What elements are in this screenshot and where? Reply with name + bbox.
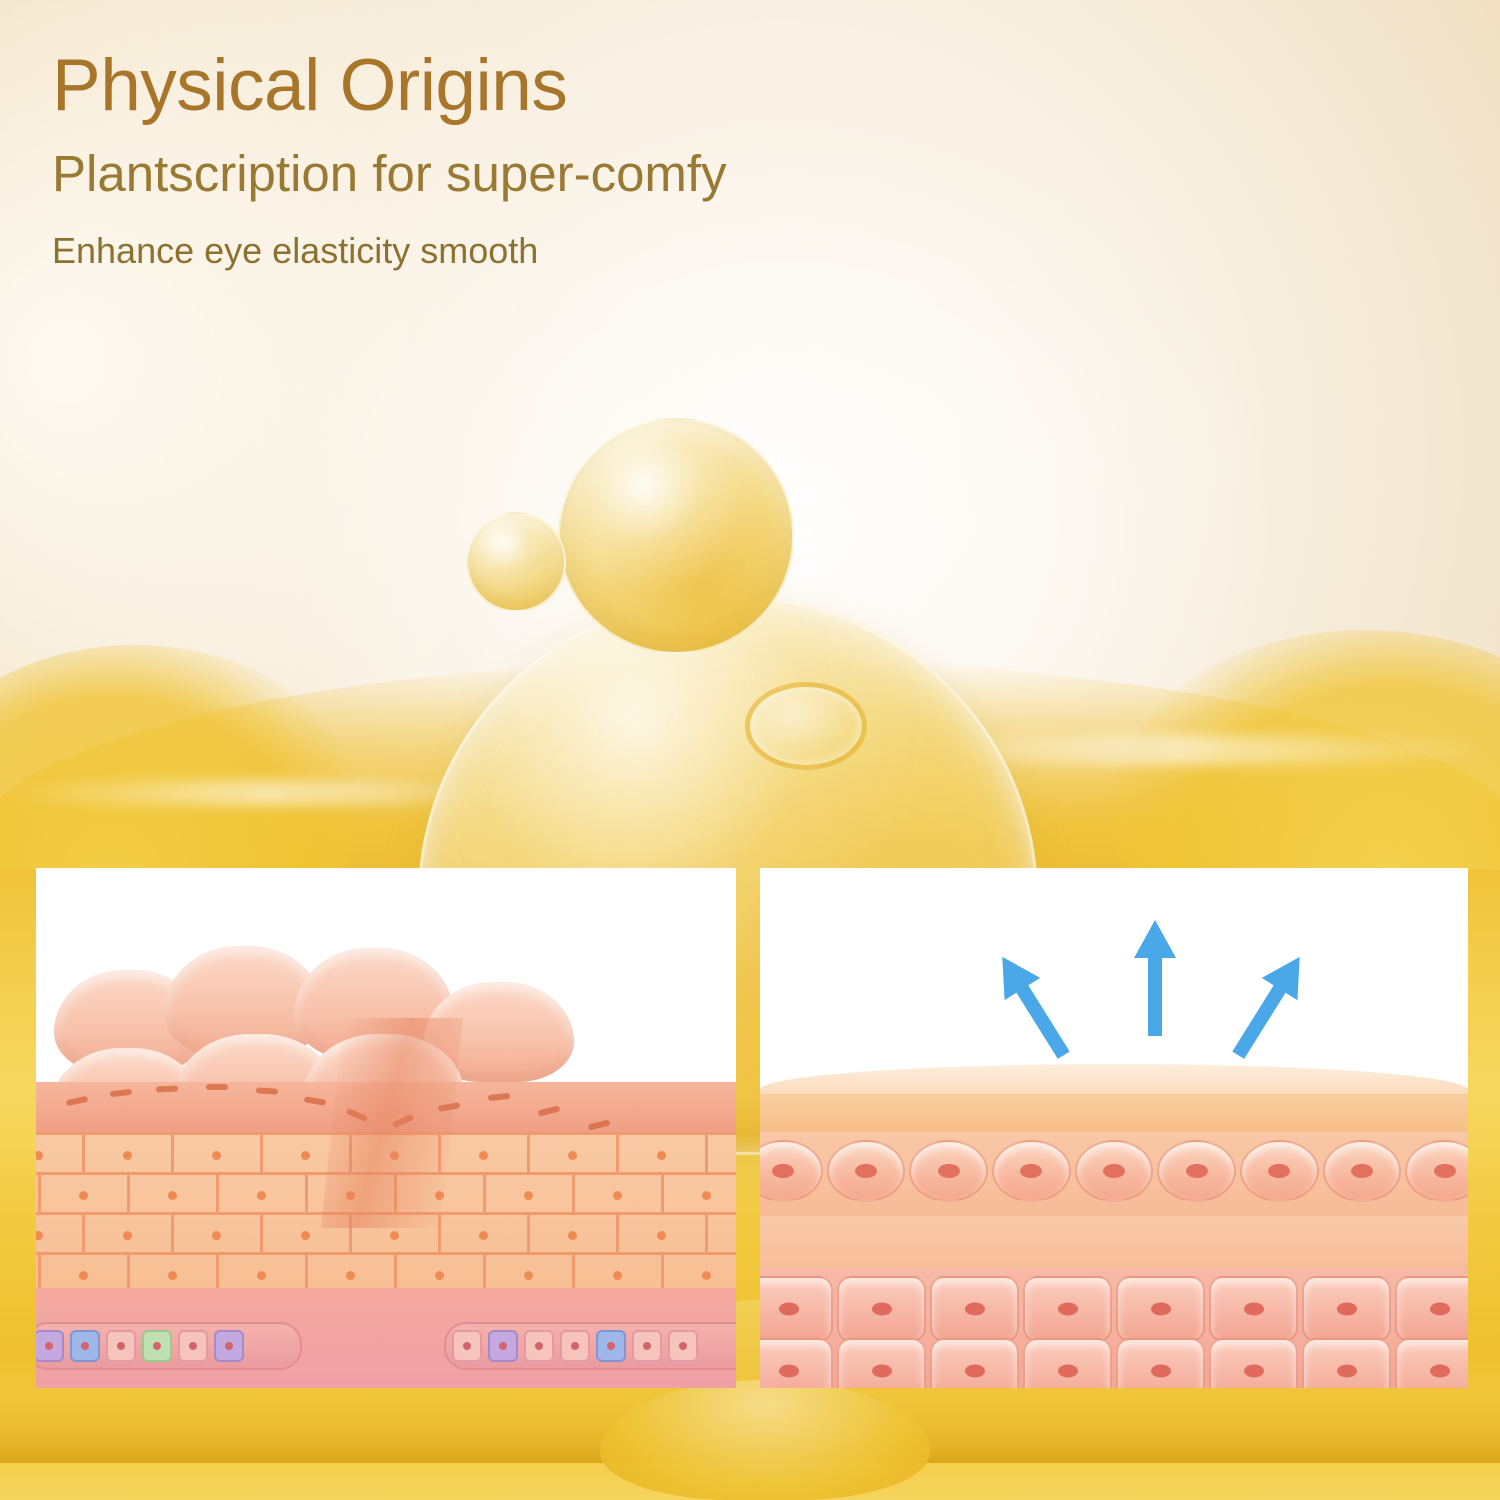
cell-nucleus	[168, 1191, 177, 1200]
cell-nucleus	[36, 1151, 43, 1160]
brick-cell	[174, 1135, 263, 1175]
brick-cell	[530, 1135, 619, 1175]
brick-cell	[708, 1135, 736, 1175]
second-cell-row	[760, 1276, 1468, 1342]
cell-nucleus	[657, 1231, 666, 1240]
cell-nucleus	[212, 1151, 221, 1160]
dermal-cell	[930, 1338, 1019, 1388]
wrinkled-skin-diagram	[36, 868, 736, 1388]
cell-nucleus	[212, 1231, 221, 1240]
inner-air-bubble	[745, 682, 867, 770]
stratum-fiber	[488, 1093, 511, 1101]
infographic-canvas: Physical Origins Plantscription for supe…	[0, 0, 1500, 1500]
cell-nucleus	[479, 1231, 488, 1240]
dermal-cell	[1209, 1276, 1298, 1342]
cell-nucleus	[702, 1271, 711, 1280]
medium-oil-bubble	[558, 418, 794, 654]
cell-nucleus	[524, 1191, 533, 1200]
page-title: Physical Origins	[52, 48, 1112, 124]
brick-cell	[36, 1215, 85, 1255]
cell-nucleus	[568, 1151, 577, 1160]
third-cell-row	[760, 1338, 1468, 1388]
brick-cell	[130, 1175, 219, 1215]
stratum-fiber	[206, 1084, 228, 1090]
brick-cell	[708, 1215, 736, 1255]
vessel-cell	[668, 1330, 698, 1362]
dermal-cell	[1116, 1338, 1205, 1388]
cell-nucleus	[524, 1271, 533, 1280]
dermal-cell	[760, 1276, 833, 1342]
brick-cell	[664, 1175, 736, 1215]
plump-cell	[1405, 1140, 1468, 1202]
cell-nucleus	[123, 1231, 132, 1240]
page-subtitle: Plantscription for super-comfy	[52, 146, 1112, 201]
smooth-surface-layer	[760, 1094, 1468, 1134]
vessel-cell	[488, 1330, 518, 1362]
cell-nucleus	[301, 1231, 310, 1240]
heading-block: Physical Origins Plantscription for supe…	[52, 48, 1112, 271]
stratum-fiber	[66, 1096, 89, 1106]
brick-cell	[575, 1175, 664, 1215]
dermal-cell	[1209, 1338, 1298, 1388]
cell-nucleus	[568, 1231, 577, 1240]
brick-cell	[174, 1215, 263, 1255]
cell-nucleus	[390, 1231, 399, 1240]
stratum-fiber	[110, 1089, 133, 1097]
vessel-cell	[36, 1330, 64, 1362]
vessel-cell	[632, 1330, 662, 1362]
dermal-cell	[1395, 1338, 1468, 1388]
brick-cell	[486, 1175, 575, 1215]
plump-cell	[1075, 1140, 1154, 1202]
cell-nucleus	[257, 1191, 266, 1200]
page-tagline: Enhance eye elasticity smooth	[52, 231, 1112, 271]
brick-cell	[530, 1215, 619, 1255]
cell-nucleus	[435, 1271, 444, 1280]
brick-cell	[36, 1135, 85, 1175]
diagram-card-row	[36, 868, 1468, 1388]
brick-cell	[41, 1175, 130, 1215]
dermal-cell	[1302, 1338, 1391, 1388]
dermal-cell	[837, 1338, 926, 1388]
cell-nucleus	[301, 1151, 310, 1160]
stratum-fiber	[256, 1087, 278, 1095]
vessel-cell	[524, 1330, 554, 1362]
brick-cell	[85, 1215, 174, 1255]
vessel-cell	[560, 1330, 590, 1362]
cell-nucleus	[79, 1271, 88, 1280]
wrinkle-fold-shadow	[321, 1018, 463, 1228]
cell-nucleus	[657, 1151, 666, 1160]
small-oil-bubble	[466, 512, 566, 612]
brick-cell	[619, 1135, 708, 1175]
dermal-cell	[1023, 1338, 1112, 1388]
dermal-cell	[1023, 1276, 1112, 1342]
brick-cell	[441, 1215, 530, 1255]
brick-cell	[619, 1215, 708, 1255]
stratum-fiber	[156, 1085, 178, 1092]
blood-vessel	[36, 1322, 302, 1370]
arrow-up-icon	[1132, 918, 1178, 1038]
dermal-cell	[837, 1276, 926, 1342]
cell-nucleus	[257, 1271, 266, 1280]
vessel-cell	[214, 1330, 244, 1362]
cell-nucleus	[168, 1271, 177, 1280]
stratum-fiber	[304, 1096, 327, 1105]
vessel-cell	[142, 1330, 172, 1362]
cell-nucleus	[346, 1271, 355, 1280]
cell-nucleus	[702, 1191, 711, 1200]
vessel-cell	[452, 1330, 482, 1362]
plump-cell	[1157, 1140, 1236, 1202]
cell-nucleus	[479, 1151, 488, 1160]
dermal-cell	[1116, 1276, 1205, 1342]
brick-cell	[85, 1135, 174, 1175]
dermal-cell	[760, 1338, 833, 1388]
brick-cell	[441, 1135, 530, 1175]
plump-cell	[760, 1140, 823, 1202]
vessel-cell	[106, 1330, 136, 1362]
dermal-cell	[1302, 1276, 1391, 1342]
brick-cell	[219, 1175, 308, 1215]
cell-nucleus	[123, 1151, 132, 1160]
plump-cell	[827, 1140, 906, 1202]
dermal-cell	[1395, 1276, 1468, 1342]
cell-nucleus	[613, 1271, 622, 1280]
plump-cell	[909, 1140, 988, 1202]
plump-cell	[992, 1140, 1071, 1202]
blood-vessel	[444, 1322, 736, 1370]
stratum-fiber	[538, 1105, 561, 1116]
plump-cell-row	[760, 1140, 1468, 1202]
plump-cell	[1240, 1140, 1319, 1202]
cell-nucleus	[36, 1231, 43, 1240]
vessel-cell	[70, 1330, 100, 1362]
firm-skin-diagram	[760, 868, 1468, 1388]
vessel-cell	[596, 1330, 626, 1362]
vessel-cell	[178, 1330, 208, 1362]
cell-nucleus	[613, 1191, 622, 1200]
plump-cell	[1323, 1140, 1402, 1202]
dermal-cell	[930, 1276, 1019, 1342]
cell-nucleus	[79, 1191, 88, 1200]
